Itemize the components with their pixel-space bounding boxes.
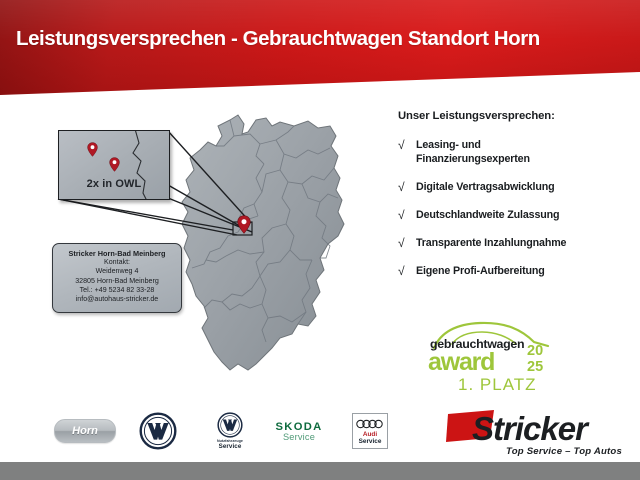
logo-slot-audi: Audi Service bbox=[340, 400, 400, 462]
award-badge: gebrauchtwagen award 20 25 1. PLATZ bbox=[424, 318, 564, 394]
promise-item-label: Eigene Profi-Aufbereitung bbox=[416, 264, 545, 278]
owl-callout-box: 2x in OWL bbox=[58, 130, 170, 200]
contact-line-label: Kontakt: bbox=[53, 258, 181, 267]
audi-service-sublabel: Service bbox=[359, 438, 382, 445]
check-icon: √ bbox=[398, 180, 416, 194]
check-icon: √ bbox=[398, 264, 416, 278]
promise-list-heading: Unser Leistungsversprechen: bbox=[398, 110, 634, 122]
promise-item-label: Leasing- und Finanzierungsexperten bbox=[416, 138, 530, 166]
contact-line-name: Stricker Horn-Bad Meinberg bbox=[53, 249, 181, 258]
horn-badge-label: Horn bbox=[72, 425, 98, 437]
germany-map bbox=[168, 112, 368, 397]
promise-list: Unser Leistungsversprechen: √ Leasing- u… bbox=[398, 110, 634, 292]
page-title: Leistungsversprechen - Gebrauchtwagen St… bbox=[16, 27, 540, 51]
check-icon: √ bbox=[398, 236, 416, 250]
award-line2: award bbox=[428, 348, 494, 376]
map-pin-1 bbox=[87, 142, 98, 157]
promise-item-4: √ Transparente Inzahlungnahme bbox=[398, 236, 634, 250]
promise-item-3: √ Deutschlandweite Zulassung bbox=[398, 208, 634, 222]
logo-slot-vw bbox=[128, 400, 188, 462]
promise-item-2: √ Digitale Vertragsabwicklung bbox=[398, 180, 634, 194]
stricker-tagline: Top Service – Top Autos bbox=[506, 446, 622, 457]
audi-rings-icon bbox=[355, 419, 385, 429]
logo-slot-vw-nutzfahrzeuge: Nutzfahrzeuge Service bbox=[196, 400, 264, 462]
award-year-bottom: 25 bbox=[527, 359, 543, 375]
promise-item-1: √ Leasing- und Finanzierungsexperten bbox=[398, 138, 634, 166]
logo-slot-horn: Horn bbox=[48, 400, 122, 462]
stricker-logo: Stricker Top Service – Top Autos bbox=[446, 404, 632, 460]
vw-nutzfahrzeuge-icon bbox=[217, 412, 243, 438]
award-year-top: 20 bbox=[527, 343, 543, 359]
contact-line-phone: Tel.: +49 5234 82 33-28 bbox=[53, 286, 181, 295]
promise-item-label: Transparente Inzahlungnahme bbox=[416, 236, 566, 250]
contact-card: Stricker Horn-Bad Meinberg Kontakt: Weid… bbox=[52, 243, 182, 313]
contact-line-street: Weidenweg 4 bbox=[53, 267, 181, 276]
contact-line-city: 32805 Horn-Bad Meinberg bbox=[53, 277, 181, 286]
check-icon: √ bbox=[398, 208, 416, 222]
horn-badge: Horn bbox=[54, 419, 116, 443]
owl-callout-label: 2x in OWL bbox=[59, 178, 169, 190]
contact-line-email: info@autohaus-stricker.de bbox=[53, 295, 181, 304]
audi-label: Audi bbox=[363, 431, 377, 438]
award-rank: 1. PLATZ bbox=[458, 375, 537, 394]
promise-item-label: Deutschlandweite Zulassung bbox=[416, 208, 559, 222]
vw-service-sublabel: Service bbox=[219, 443, 242, 450]
audi-service-logo: Audi Service bbox=[352, 413, 388, 449]
map-pin-2 bbox=[109, 157, 120, 172]
check-icon: √ bbox=[398, 138, 416, 152]
skoda-service-sublabel: Service bbox=[283, 432, 315, 442]
slide-root: Leistungsversprechen - Gebrauchtwagen St… bbox=[0, 0, 640, 480]
map-pin-horn bbox=[237, 215, 251, 234]
logo-slot-skoda: SKODA Service bbox=[262, 400, 336, 462]
stricker-wordmark: Stricker bbox=[472, 410, 590, 447]
promise-item-label: Digitale Vertragsabwicklung bbox=[416, 180, 555, 194]
vw-logo bbox=[139, 412, 177, 450]
footer-bar bbox=[0, 462, 640, 480]
promise-item-5: √ Eigene Profi-Aufbereitung bbox=[398, 264, 634, 278]
